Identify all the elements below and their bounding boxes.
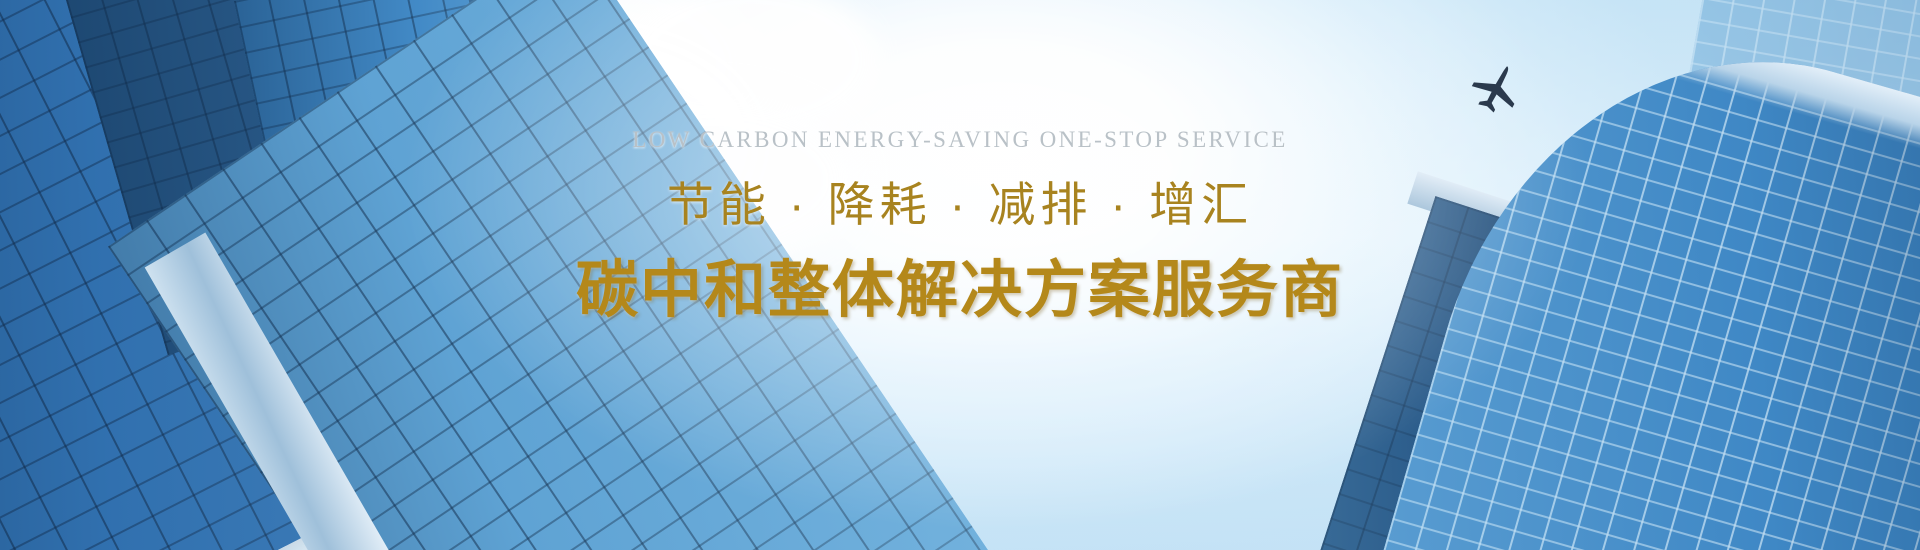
banner-eyebrow: LOW CARBON ENERGY-SAVING ONE-STOP SERVIC… [632, 128, 1287, 151]
banner-headline: 碳中和整体解决方案服务商 [576, 254, 1344, 327]
banner-subheadline: 节能 · 降耗 · 减排 · 增汇 [667, 177, 1253, 232]
hero-banner: LOW CARBON ENERGY-SAVING ONE-STOP SERVIC… [0, 0, 1920, 550]
banner-copy-block: LOW CARBON ENERGY-SAVING ONE-STOP SERVIC… [0, 128, 1920, 328]
airplane-icon [1466, 58, 1528, 120]
